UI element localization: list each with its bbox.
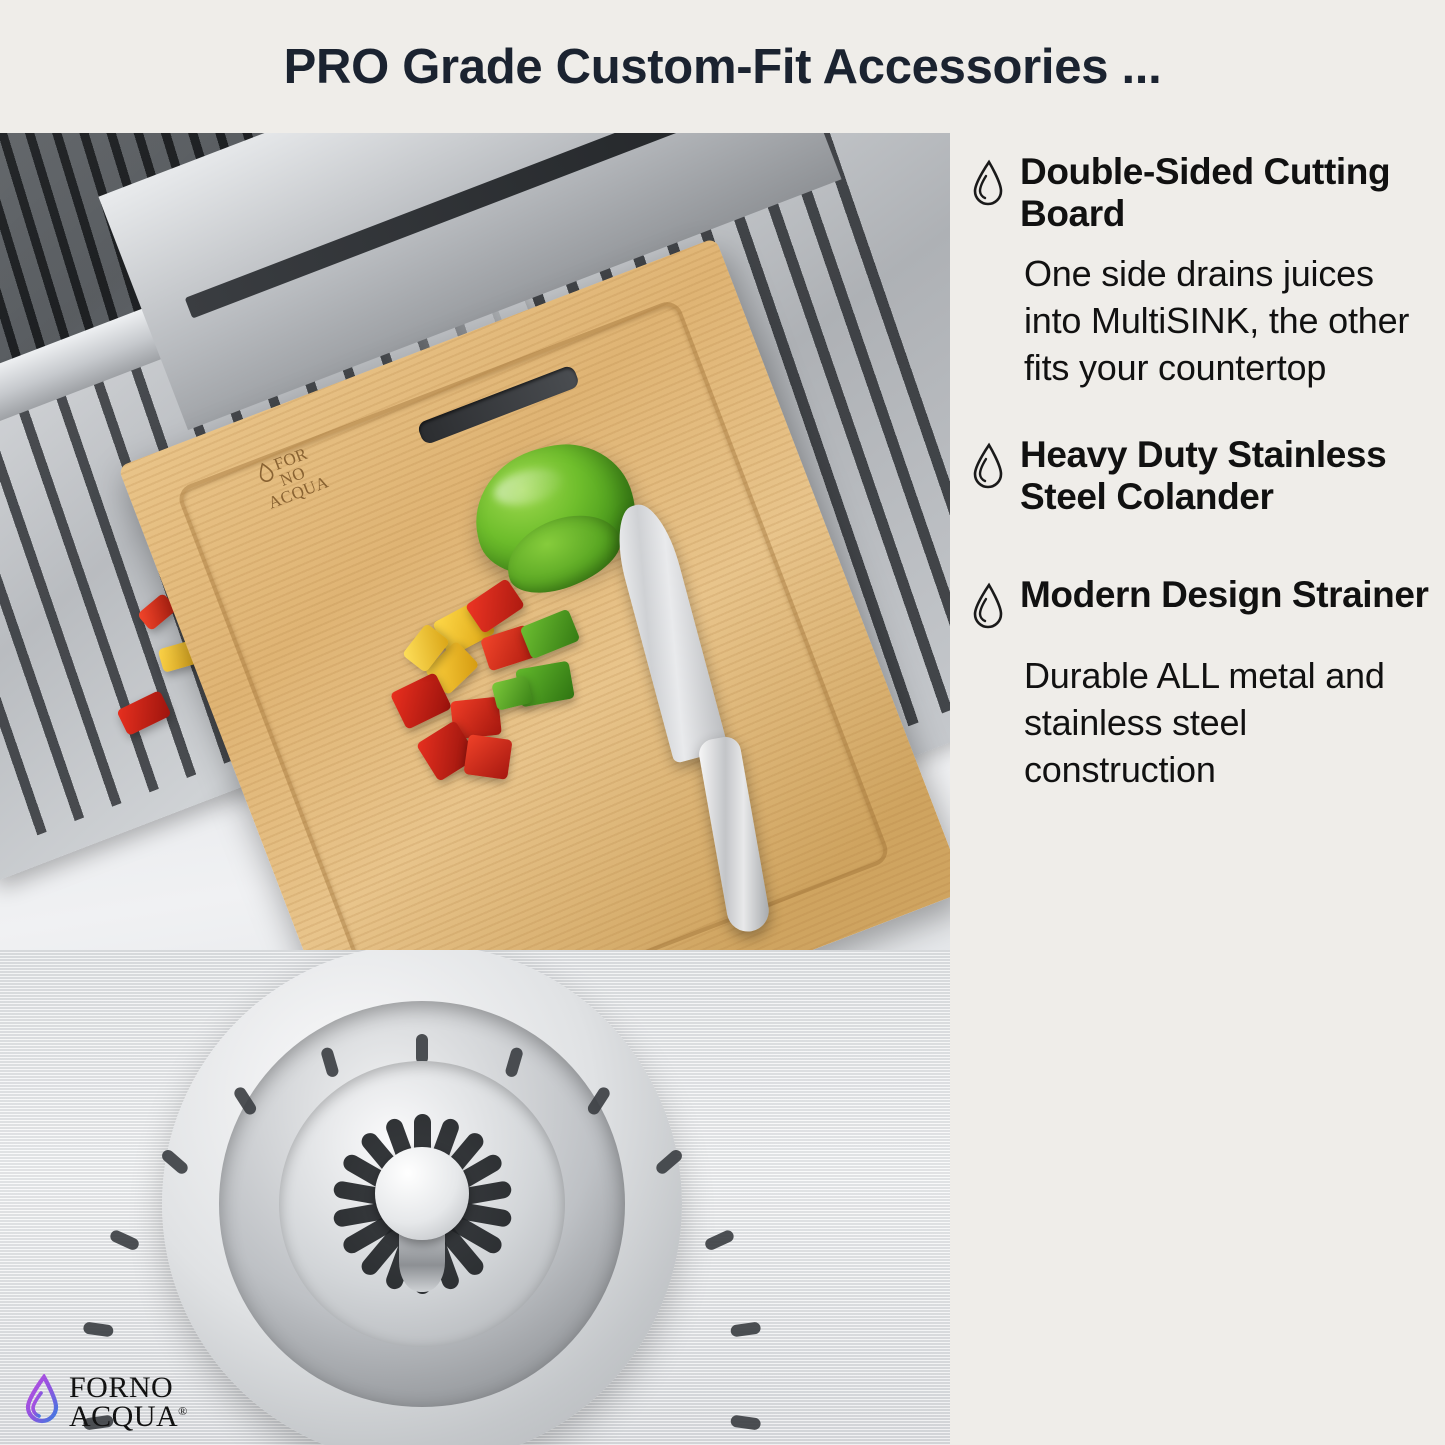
- water-drop-icon: [968, 442, 1008, 497]
- feature-title: Modern Design Strainer: [1020, 574, 1429, 616]
- feature-double-sided-cutting-board: Double-Sided Cutting Board One side drai…: [968, 151, 1429, 392]
- drain-hole: [108, 1228, 140, 1251]
- feature-body: One side drains juices into MultiSINK, t…: [1024, 251, 1429, 391]
- drain-hole: [730, 1414, 761, 1430]
- header-bar: PRO Grade Custom-Fit Accessories ...: [0, 0, 1445, 133]
- feature-body: Durable ALL metal and stainless steel co…: [1024, 653, 1429, 793]
- features-column: Double-Sided Cutting Board One side drai…: [950, 133, 1445, 1445]
- registered-mark: ®: [178, 1404, 188, 1418]
- strainer-knob: [375, 1147, 469, 1241]
- sink-drain: [162, 950, 682, 1445]
- drain-hole: [320, 1046, 340, 1078]
- feature-title: Heavy Duty Stainless Steel Colander: [1020, 434, 1429, 518]
- drain-hole: [730, 1321, 761, 1337]
- drain-hole: [416, 1034, 428, 1064]
- feature-header: Modern Design Strainer: [968, 574, 1429, 637]
- photo-sink-strainer: FORNO ACQUA®: [0, 950, 950, 1445]
- drain-hole: [83, 1321, 114, 1337]
- drain-hole: [703, 1228, 735, 1251]
- water-drop-logo-icon: [22, 1374, 62, 1431]
- water-drop-icon: [968, 582, 1008, 637]
- brand-logo: FORNO ACQUA®: [22, 1374, 188, 1431]
- brand-line-1: FORNO: [69, 1374, 188, 1402]
- pepper-piece: [463, 734, 512, 780]
- brand-wordmark: FORNO ACQUA®: [69, 1374, 188, 1430]
- feature-title: Double-Sided Cutting Board: [1020, 151, 1429, 235]
- page-title: PRO Grade Custom-Fit Accessories ...: [284, 39, 1162, 95]
- feature-header: Double-Sided Cutting Board: [968, 151, 1429, 235]
- water-drop-icon: [968, 159, 1008, 214]
- feature-modern-design-strainer: Modern Design Strainer Durable ALL metal…: [968, 574, 1429, 793]
- feature-stainless-steel-colander: Heavy Duty Stainless Steel Colander: [968, 434, 1429, 518]
- photo-column: FOR NO ACQUA: [0, 133, 950, 1445]
- drain-hole: [504, 1046, 524, 1078]
- brand-line-2: ACQUA: [69, 1400, 178, 1433]
- photo-cutting-board-sink: FOR NO ACQUA: [0, 133, 950, 950]
- feature-header: Heavy Duty Stainless Steel Colander: [968, 434, 1429, 518]
